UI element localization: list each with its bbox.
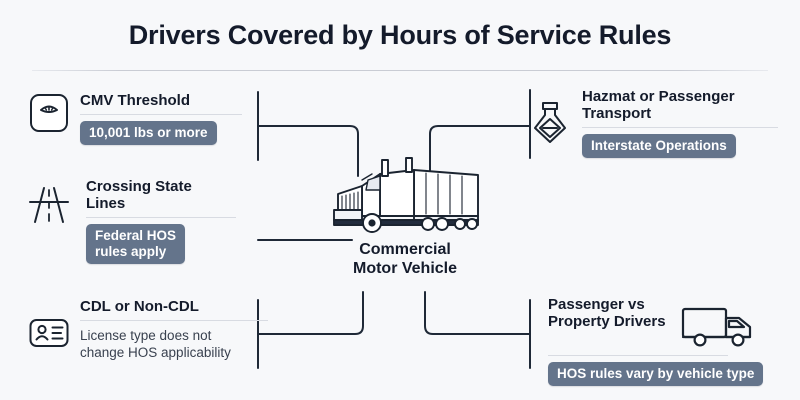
hazmat-flask-icon (528, 96, 572, 150)
node-divider (582, 127, 778, 128)
node-body: Crossing State Lines Federal HOS rules a… (86, 178, 236, 264)
node-hazmat-passenger-transport[interactable]: Hazmat or Passenger Transport Interstate… (528, 88, 778, 158)
node-passenger-vs-property-drivers[interactable]: Passenger vs Property Drivers HOS rules (548, 296, 763, 386)
node-body: CMV Threshold 10,001 lbs or more (80, 92, 242, 145)
node-description: License type does not change HOS applica… (80, 327, 268, 361)
node-title: CDL or Non-CDL (80, 298, 268, 315)
node-crossing-state-lines[interactable]: Crossing State Lines Federal HOS rules a… (22, 178, 236, 264)
node-divider (80, 114, 242, 115)
node-divider (86, 217, 236, 218)
delivery-truck-icon (680, 302, 758, 350)
node-title: Hazmat or Passenger Transport (582, 88, 778, 122)
node-title: Passenger vs Property Drivers (548, 296, 666, 330)
node-badge: Interstate Operations (582, 134, 736, 158)
node-divider (548, 355, 728, 356)
node-body: Passenger vs Property Drivers HOS rules (548, 296, 763, 386)
weight-scale-icon (28, 92, 70, 134)
infographic-canvas: Drivers Covered by Hours of Service Rule… (0, 0, 800, 400)
semi-truck-illustration (310, 150, 500, 238)
node-cdl-or-non-cdl[interactable]: CDL or Non-CDL License type does not cha… (28, 298, 268, 361)
node-badge: HOS rules vary by vehicle type (548, 362, 763, 386)
node-badge: 10,001 lbs or more (80, 121, 217, 145)
highway-road-icon (22, 178, 76, 232)
center-node-label: Commercial Motor Vehicle (310, 240, 500, 278)
node-divider (80, 320, 268, 321)
node-body: Hazmat or Passenger Transport Interstate… (582, 88, 778, 158)
center-node: Commercial Motor Vehicle (310, 150, 500, 278)
connector-left-bottom-branch (258, 292, 363, 334)
node-cmv-threshold[interactable]: CMV Threshold 10,001 lbs or more (28, 92, 242, 145)
node-title: Crossing State Lines (86, 178, 236, 212)
node-badge: Federal HOS rules apply (86, 224, 185, 264)
node-body: CDL or Non-CDL License type does not cha… (80, 298, 268, 361)
connector-right-bottom-branch (425, 292, 530, 334)
id-card-icon (28, 312, 70, 354)
node-title: CMV Threshold (80, 92, 242, 109)
